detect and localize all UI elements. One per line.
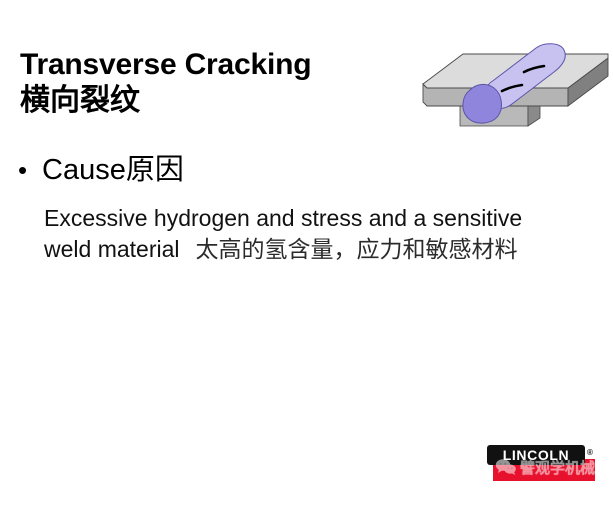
body-line-2: weld material太高的氢含量，应力和敏感材料 — [44, 234, 609, 265]
body-line-1: Excessive hydrogen and stress and a sens… — [44, 203, 609, 234]
body-line-2-chinese: 太高的氢含量，应力和敏感材料 — [196, 236, 518, 262]
body-paragraph: Excessive hydrogen and stress and a sens… — [44, 203, 609, 265]
registered-trademark-icon: ® — [587, 449, 593, 457]
lincoln-logo: LINCOLN ® — [487, 445, 597, 483]
logo-wordmark: LINCOLN — [503, 448, 569, 462]
bullet-marker-icon: • — [14, 153, 42, 187]
slide-canvas: Transverse Cracking 横向裂纹 • Cause原因 Exces… — [0, 0, 613, 523]
body-line-2-english: weld material — [44, 236, 180, 262]
bullet-item-label: Cause原因 — [42, 153, 184, 187]
bullet-item-cause: • Cause原因 — [14, 153, 184, 187]
page-title-chinese: 横向裂纹 — [20, 83, 420, 119]
page-title: Transverse Cracking — [20, 48, 420, 82]
weld-diagram — [418, 28, 613, 132]
logo-black-bar: LINCOLN — [487, 445, 585, 465]
title-block: Transverse Cracking 横向裂纹 — [20, 48, 420, 119]
